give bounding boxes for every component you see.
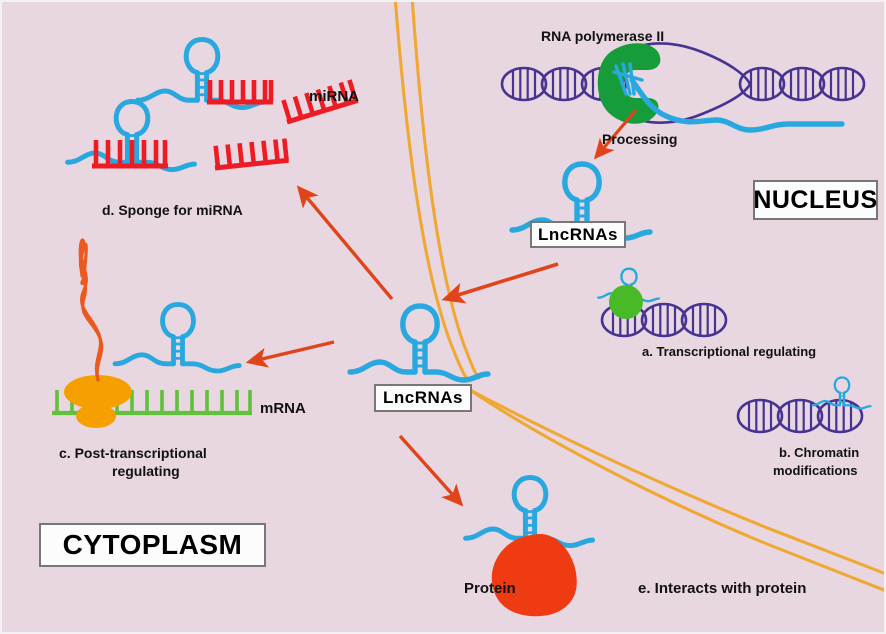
label-mechanism-d: d. Sponge for miRNA <box>102 202 243 219</box>
lncrna-cytoplasmic-icon <box>350 306 488 380</box>
label-protein: Protein <box>464 580 516 598</box>
label-rna-polymerase: RNA polymerase II <box>541 28 664 45</box>
mechanism-b-chromatin-modifications <box>738 378 871 432</box>
box-lncrnas-cytoplasmic: LncRNAs <box>374 384 472 412</box>
label-mechanism-a: a. Transcriptional regulating <box>642 344 816 359</box>
arrow-to-protein <box>400 436 461 504</box>
figure-canvas: RNA polymerase II Processing NUCLEUS Lnc… <box>0 0 886 634</box>
box-cytoplasm: CYTOPLASM <box>39 523 266 567</box>
label-mrna: mRNA <box>260 400 306 418</box>
label-mechanism-c-line1: c. Post-transcriptional <box>59 445 207 462</box>
box-lncrnas-nuclear: LncRNAs <box>530 221 626 248</box>
mechanism-a-transcriptional-regulating <box>598 269 726 336</box>
label-mechanism-b-line2: modifications <box>773 463 858 478</box>
label-processing: Processing <box>602 131 677 148</box>
mirna-icon-2 <box>213 138 289 168</box>
label-mechanism-e: e. Interacts with protein <box>638 580 806 598</box>
arrow-to-mirna-sponge <box>299 188 392 299</box>
arrow-to-mrna-complex <box>249 342 334 362</box>
label-mechanism-b-line1: b. Chromatin <box>779 445 859 460</box>
transcription-complex <box>502 43 864 130</box>
dna-double-helix-right <box>740 68 864 100</box>
box-nucleus: NUCLEUS <box>753 180 878 220</box>
arrow-nuclear-export <box>445 264 558 299</box>
mechanism-c-post-transcriptional-regulating <box>52 240 252 428</box>
label-mirna: miRNA <box>309 88 359 106</box>
label-mechanism-c-line2: regulating <box>112 463 180 480</box>
